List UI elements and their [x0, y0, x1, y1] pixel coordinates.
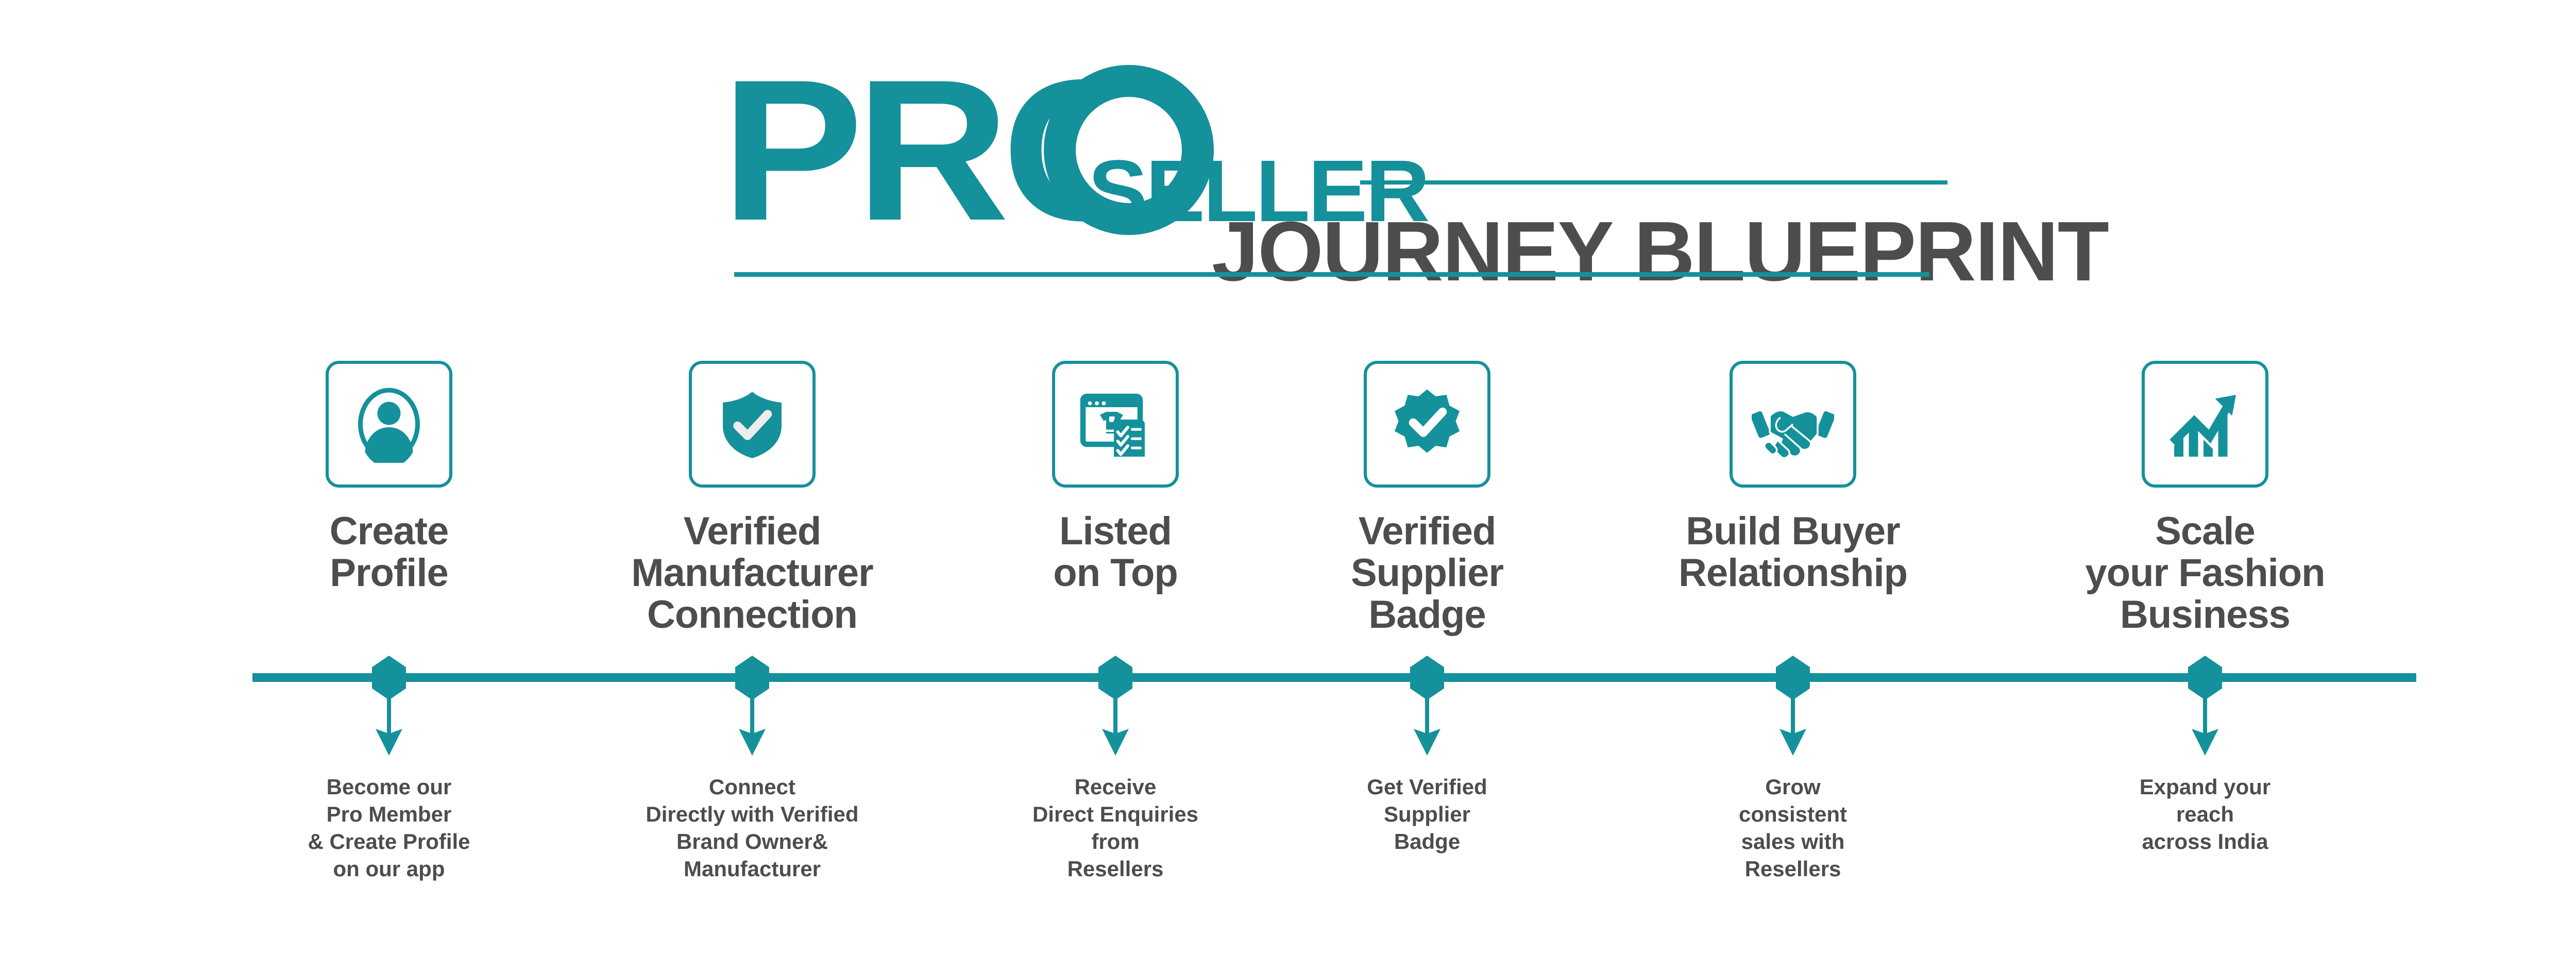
steps-container: Create Profile Become our Pro Member & C…	[0, 0, 2576, 969]
growth-chart-icon	[2166, 386, 2244, 463]
step-1-arrow-stem	[387, 697, 391, 734]
step-4-title-line: Badge	[1231, 594, 1623, 636]
step-5-description: Grow consistent sales with Resellers	[1597, 773, 1989, 882]
step-2-title-line: Manufacturer	[556, 552, 948, 594]
step-2-desc-line: Connect	[556, 773, 948, 800]
step-1-desc-line: Become our	[193, 773, 585, 800]
step-2[interactable]: Verified Manufacturer Connection Connect…	[556, 0, 948, 969]
step-1-desc-line: on our app	[193, 855, 585, 882]
step-5-hex-marker[interactable]	[1776, 656, 1810, 700]
step-2-desc-line: Brand Owner&	[556, 828, 948, 855]
step-2-arrow-stem	[750, 697, 754, 734]
step-5-arrow-stem	[1791, 697, 1795, 734]
step-5-desc-line: consistent	[1597, 800, 1989, 828]
step-3-icon-box[interactable]	[1052, 361, 1179, 488]
step-6-icon-box[interactable]	[2142, 361, 2268, 488]
step-5-title-line: Build Buyer	[1597, 510, 1989, 552]
step-4-title-line: Verified	[1231, 510, 1623, 552]
step-5-title: Build Buyer Relationship	[1597, 510, 1989, 594]
step-6-desc-line: reach	[2009, 800, 2401, 828]
step-6-description: Expand your reach across India	[2009, 773, 2401, 855]
step-6-arrow-stem	[2203, 697, 2207, 734]
shield-check-icon	[714, 386, 791, 463]
step-6-title: Scale your Fashion Business	[2009, 510, 2401, 636]
step-5[interactable]: Build Buyer Relationship Grow consistent…	[1597, 0, 1989, 969]
step-4-desc-line: Get Verified	[1231, 773, 1623, 800]
step-5-icon-box[interactable]	[1730, 361, 1856, 488]
step-2-description: Connect Directly with Verified Brand Own…	[556, 773, 948, 882]
step-4-arrow-stem	[1425, 697, 1429, 734]
step-6-title-line: your Fashion	[2009, 552, 2401, 594]
step-4-desc-line: Badge	[1231, 828, 1623, 855]
step-5-desc-line: Resellers	[1597, 855, 1989, 882]
step-2-desc-line: Directly with Verified	[556, 800, 948, 828]
step-2-icon-box[interactable]	[689, 361, 816, 488]
step-2-title-line: Connection	[556, 594, 948, 636]
step-6-hex-marker[interactable]	[2188, 656, 2222, 700]
step-1-desc-line: Pro Member	[193, 800, 585, 828]
step-1-hex-marker[interactable]	[372, 656, 406, 700]
step-4-hex-marker[interactable]	[1410, 656, 1444, 700]
product-listing-checklist-icon	[1077, 386, 1154, 463]
step-2-title-line: Verified	[556, 510, 948, 552]
verified-badge-icon	[1388, 386, 1466, 463]
step-4-desc-line: Supplier	[1231, 800, 1623, 828]
step-2-hex-marker[interactable]	[735, 656, 769, 700]
step-1-title: Create Profile	[193, 510, 585, 594]
step-4[interactable]: Verified Supplier Badge Get Verified Sup…	[1231, 0, 1623, 969]
step-1-title-line: Profile	[193, 552, 585, 594]
user-profile-icon	[350, 386, 428, 463]
step-3-arrow-stem	[1113, 697, 1117, 734]
step-6-title-line: Business	[2009, 594, 2401, 636]
step-1-title-line: Create	[193, 510, 585, 552]
step-4-description: Get Verified Supplier Badge	[1231, 773, 1623, 855]
step-1-desc-line: & Create Profile	[193, 828, 585, 855]
step-1-icon-box[interactable]	[326, 361, 452, 488]
step-4-title: Verified Supplier Badge	[1231, 510, 1623, 636]
step-6-desc-line: Expand your	[2009, 773, 2401, 800]
step-6-title-line: Scale	[2009, 510, 2401, 552]
step-2-title: Verified Manufacturer Connection	[556, 510, 948, 636]
step-1-description: Become our Pro Member & Create Profile o…	[193, 773, 585, 882]
step-3-hex-marker[interactable]	[1098, 656, 1132, 700]
handshake-icon	[1752, 383, 1834, 465]
step-5-desc-line: sales with	[1597, 828, 1989, 855]
step-5-title-line: Relationship	[1597, 552, 1989, 594]
step-2-desc-line: Manufacturer	[556, 855, 948, 882]
step-5-desc-line: Grow	[1597, 773, 1989, 800]
step-1[interactable]: Create Profile Become our Pro Member & C…	[193, 0, 585, 969]
step-6-desc-line: across India	[2009, 828, 2401, 855]
step-6[interactable]: Scale your Fashion Business Expand your …	[2009, 0, 2401, 969]
step-4-title-line: Supplier	[1231, 552, 1623, 594]
step-4-icon-box[interactable]	[1364, 361, 1490, 488]
